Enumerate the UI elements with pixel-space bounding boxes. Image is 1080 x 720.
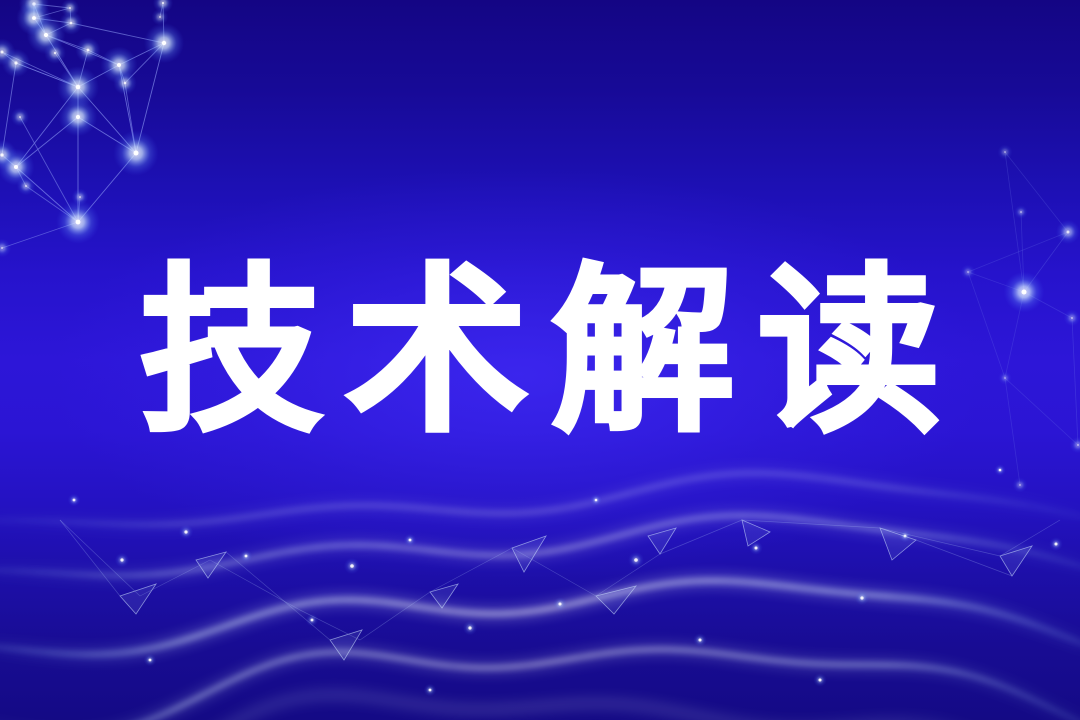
page-title: 技术解读 bbox=[117, 263, 964, 443]
wave-triangles bbox=[60, 520, 1060, 660]
dot-grid bbox=[0, 486, 1080, 720]
headline-container: 技术解读 bbox=[0, 248, 1080, 458]
light-ribbons bbox=[0, 473, 1080, 720]
technology-banner: 技术解读 bbox=[0, 0, 1080, 720]
